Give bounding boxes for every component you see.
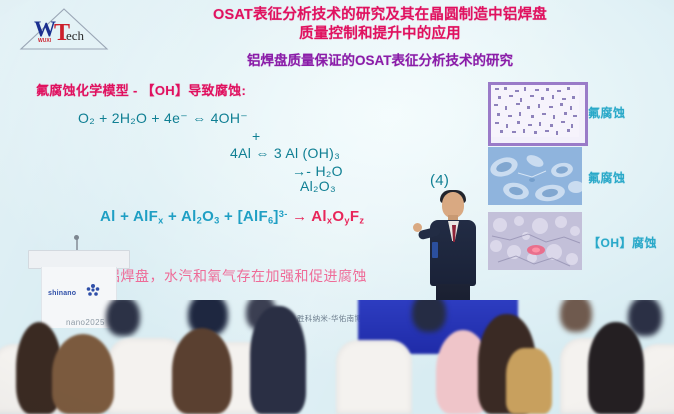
panel-label-3: 【OH】腐蚀 bbox=[588, 234, 657, 251]
equation-line-1: O₂ + 2H₂O + 4e⁻ ⇔ 4OH⁻ bbox=[78, 110, 248, 127]
podium-logo-mark bbox=[86, 283, 100, 297]
equation-line-4: Al₂O₃ bbox=[300, 178, 336, 194]
audience-head bbox=[52, 334, 114, 414]
panel-label-2: 氟腐蚀 bbox=[588, 169, 626, 186]
audience-head bbox=[106, 300, 140, 336]
podium-brand-label: shinano bbox=[48, 290, 76, 297]
audience-head bbox=[172, 328, 232, 414]
slide-title-line2: 质量控制和提升中的应用 bbox=[120, 25, 640, 44]
equation-line-3: →- H₂O bbox=[292, 163, 343, 179]
equation-plus-sign: + bbox=[252, 128, 260, 144]
slide-title: OSAT表征分析技术的研究及其在晶圆制造中铝焊盘 质量控制和提升中的应用 bbox=[120, 6, 640, 44]
reaction-reactants: Al + AlFx + Al2O3 + [AlF6]3- bbox=[100, 208, 288, 225]
reaction-arrow-icon: → bbox=[292, 208, 307, 225]
presenter-badge bbox=[432, 242, 438, 258]
equation-line-2: 4Al ⇔ 3 Al (OH)₃ bbox=[230, 145, 340, 161]
wt-tech-logo: W T ech WUXI bbox=[18, 6, 110, 52]
slide-subtitle: 铝焊盘质量保证的OSAT表征分析技术的研究 bbox=[120, 52, 640, 69]
presenter-hand bbox=[413, 223, 422, 232]
audience-area bbox=[0, 300, 674, 414]
audience-head bbox=[588, 322, 644, 414]
chair bbox=[336, 340, 412, 414]
presentation-photo: W T ech WUXI OSAT表征分析技术的研究及其在晶圆制造中铝焊盘 质量… bbox=[0, 0, 674, 414]
svg-text:WUXI: WUXI bbox=[38, 38, 52, 44]
audience-head bbox=[250, 306, 306, 414]
reaction-equation: Al + AlFx + Al2O3 + [AlF6]3- → AlxOyFz bbox=[100, 208, 364, 225]
audience-head bbox=[412, 300, 446, 332]
micrograph-panel-1 bbox=[488, 82, 588, 146]
slide-title-line1: OSAT表征分析技术的研究及其在晶圆制造中铝焊盘 bbox=[120, 6, 640, 25]
model-heading: 氟腐蚀化学模型 - 【OH】导致腐蚀: bbox=[36, 80, 246, 99]
equation-number: (4) bbox=[430, 172, 449, 189]
panel-label-1: 氟腐蚀 bbox=[588, 104, 626, 121]
micrograph-panel-3 bbox=[488, 212, 582, 270]
micrograph-panel-2 bbox=[488, 147, 582, 205]
audience-head bbox=[506, 348, 552, 414]
audience-head bbox=[560, 300, 592, 332]
svg-text:ech: ech bbox=[66, 28, 85, 43]
reaction-product: AlxOyFz bbox=[311, 208, 364, 225]
